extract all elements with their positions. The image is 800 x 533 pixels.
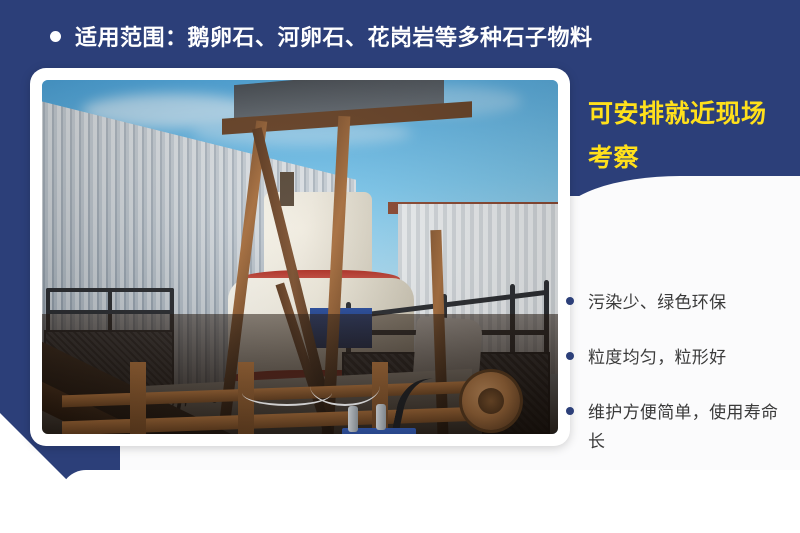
bullet-dot-icon bbox=[566, 352, 574, 360]
feature-text: 粒度均匀，粒形好 bbox=[588, 343, 726, 372]
motor-pulley bbox=[462, 372, 520, 430]
photo-card: T bbox=[30, 68, 570, 446]
promo-headline: 可安排就近现场考察 bbox=[588, 92, 788, 180]
sand-making-machine-site-photo: T bbox=[42, 80, 558, 434]
bullet-dot-icon bbox=[566, 297, 574, 305]
pulley-hub bbox=[478, 388, 504, 414]
feature-list: 污染少、绿色环保 粒度均匀，粒形好 维护方便简单，使用寿命长 bbox=[566, 288, 792, 482]
list-item: 粒度均匀，粒形好 bbox=[566, 343, 792, 372]
timber-post bbox=[130, 362, 146, 434]
feature-text: 维护方便简单，使用寿命长 bbox=[588, 398, 792, 456]
feature-text: 污染少、绿色环保 bbox=[588, 288, 726, 317]
hydraulic-cylinder bbox=[348, 406, 358, 432]
crusher-stack bbox=[280, 172, 294, 206]
list-item: 污染少、绿色环保 bbox=[566, 288, 792, 317]
banner-header: 适用范围：鹅卵石、河卵石、花岗岩等多种石子物料 bbox=[0, 0, 800, 72]
bullet-dot-icon bbox=[50, 31, 61, 42]
hydraulic-cylinder bbox=[376, 404, 386, 430]
list-item: 维护方便简单，使用寿命长 bbox=[566, 398, 792, 456]
header-title: 适用范围：鹅卵石、河卵石、花岗岩等多种石子物料 bbox=[75, 20, 593, 52]
bullet-dot-icon bbox=[566, 407, 574, 415]
cable bbox=[310, 366, 380, 406]
promo-banner: 适用范围：鹅卵石、河卵石、花岗岩等多种石子物料 bbox=[0, 0, 800, 533]
